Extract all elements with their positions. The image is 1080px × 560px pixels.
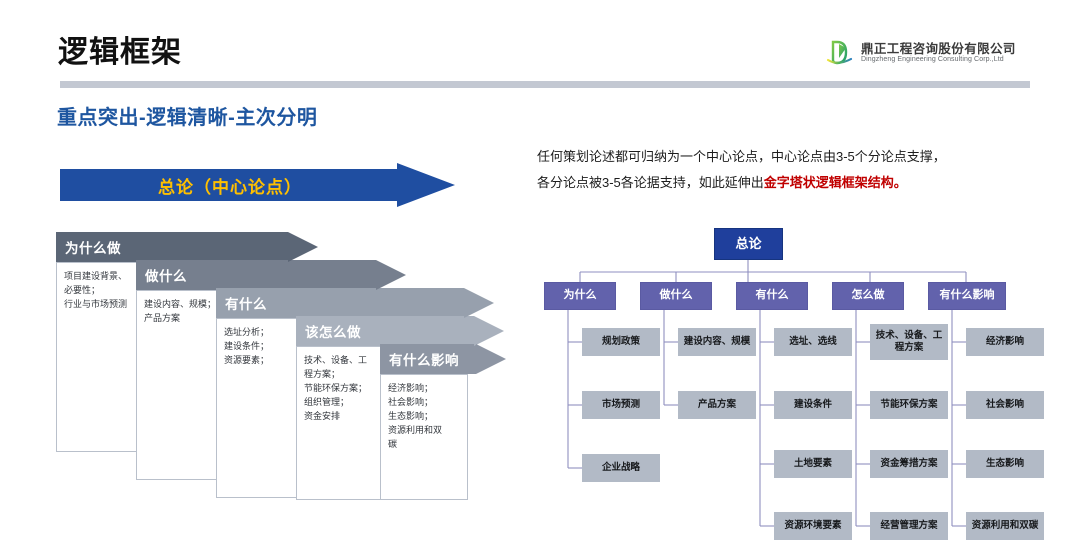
logo-leaf-icon xyxy=(826,39,854,67)
stair-body-1: 项目建设背景、 必要性； 行业与市场预测 xyxy=(56,262,144,452)
stair-5-item-2: 生态影响； xyxy=(388,410,461,424)
logo-text: 鼎正工程咨询股份有限公司 Dingzheng Engineering Consu… xyxy=(861,42,1016,64)
tree-leaf-5-3[interactable]: 生态影响 xyxy=(966,450,1044,478)
stair-head-2-label: 做什么 xyxy=(145,265,187,285)
stair-head-1: 为什么做 xyxy=(56,232,288,262)
stair-4-item-0: 技术、设备、工 xyxy=(304,354,377,368)
stair-1-item-0: 项目建设背景、 xyxy=(64,270,137,284)
tree-leaf-3-3[interactable]: 土地要素 xyxy=(774,450,852,478)
stair-3-item-2: 资源要素； xyxy=(224,354,297,368)
tree-leaf-3-2[interactable]: 建设条件 xyxy=(774,391,852,419)
tree-branch-3[interactable]: 有什么 xyxy=(736,282,808,310)
stair-head-1-label: 为什么做 xyxy=(65,237,121,257)
tree-leaf-4-2[interactable]: 节能环保方案 xyxy=(870,391,948,419)
company-logo: 鼎正工程咨询股份有限公司 Dingzheng Engineering Consu… xyxy=(826,36,1036,70)
logo-company-cn: 鼎正工程咨询股份有限公司 xyxy=(861,42,1016,56)
tree-leaf-5-2[interactable]: 社会影响 xyxy=(966,391,1044,419)
stair-4-item-3: 组织管理； xyxy=(304,396,377,410)
paragraph-line-2-plain: 各分论点被3-5各论据支持，如此延伸出 xyxy=(537,175,764,190)
stair-4-item-2: 节能环保方案； xyxy=(304,382,377,396)
stair-3-item-1: 建设条件； xyxy=(224,340,297,354)
title-divider xyxy=(60,81,1030,88)
tree-leaf-2-1[interactable]: 建设内容、规模 xyxy=(678,328,756,356)
pyramid-tree-diagram: 总论 为什么 做什么 有什么 怎么做 有什么影响 规划政策 市场预测 企业战略 … xyxy=(530,224,1075,544)
stair-body-2: 建设内容、规模； 产品方案 xyxy=(136,290,224,480)
stair-4-item-1: 程方案； xyxy=(304,368,377,382)
tree-node-root[interactable]: 总论 xyxy=(714,228,783,260)
stair-1-item-2: 行业与市场预测 xyxy=(64,298,137,312)
stair-body-3: 选址分析； 建设条件； 资源要素； xyxy=(216,318,304,498)
staircase-diagram: 为什么做 项目建设背景、 必要性； 行业与市场预测 做什么 建设内容、规模； 产… xyxy=(52,228,522,508)
tree-leaf-3-1[interactable]: 选址、选线 xyxy=(774,328,852,356)
stair-5-item-0: 经济影响； xyxy=(388,382,461,396)
stair-1-item-1: 必要性； xyxy=(64,284,137,298)
tree-leaf-1-2[interactable]: 市场预测 xyxy=(582,391,660,419)
tree-leaf-4-1[interactable]: 技术、设备、工程方案 xyxy=(870,324,948,360)
tree-leaf-5-1[interactable]: 经济影响 xyxy=(966,328,1044,356)
tree-branch-5[interactable]: 有什么影响 xyxy=(928,282,1006,310)
tree-connectors xyxy=(530,224,1075,544)
paragraph-line-1: 任何策划论述都可归纳为一个中心论点，中心论点由3-5个分论点支撑， xyxy=(537,149,946,164)
tree-leaf-4-3[interactable]: 资金筹措方案 xyxy=(870,450,948,478)
tree-branch-2[interactable]: 做什么 xyxy=(640,282,712,310)
tree-leaf-1-1[interactable]: 规划政策 xyxy=(582,328,660,356)
tree-branch-1[interactable]: 为什么 xyxy=(544,282,616,310)
stair-head-2: 做什么 xyxy=(136,260,376,290)
stair-head-3: 有什么 xyxy=(216,288,464,318)
slide-root: 逻辑框架 重点突出-逻辑清晰-主次分明 xyxy=(0,0,1080,560)
tree-leaf-5-4[interactable]: 资源利用和双碳 xyxy=(966,512,1044,540)
stair-4-item-4: 资金安排 xyxy=(304,410,377,424)
stair-5-item-3: 资源利用和双 xyxy=(388,424,461,438)
stair-body-4: 技术、设备、工 程方案； 节能环保方案； 组织管理； 资金安排 xyxy=(296,346,384,500)
stair-head-5: 有什么影响 xyxy=(380,344,476,374)
stair-head-4-label: 该怎么做 xyxy=(305,321,361,341)
stair-body-5: 经济影响； 社会影响； 生态影响； 资源利用和双 碳 xyxy=(380,374,468,500)
logo-company-en: Dingzheng Engineering Consulting Corp.,L… xyxy=(861,56,1016,64)
paragraph-highlight: 金字塔状逻辑框架结构。 xyxy=(764,175,907,190)
stair-3-item-0: 选址分析； xyxy=(224,326,297,340)
tree-leaf-2-2[interactable]: 产品方案 xyxy=(678,391,756,419)
page-title: 逻辑框架 xyxy=(58,27,182,71)
tree-leaf-1-3[interactable]: 企业战略 xyxy=(582,454,660,482)
stair-2-item-0: 建设内容、规模； xyxy=(144,298,217,312)
stair-5-item-1: 社会影响； xyxy=(388,396,461,410)
stair-head-3-label: 有什么 xyxy=(225,293,267,313)
explanatory-paragraph: 任何策划论述都可归纳为一个中心论点，中心论点由3-5个分论点支撑， 各分论点被3… xyxy=(537,144,1035,196)
tree-leaf-3-4[interactable]: 资源环境要素 xyxy=(774,512,852,540)
stair-5-item-4: 碳 xyxy=(388,438,461,452)
tree-branch-4[interactable]: 怎么做 xyxy=(832,282,904,310)
stair-head-4: 该怎么做 xyxy=(296,316,474,346)
tree-leaf-4-4[interactable]: 经营管理方案 xyxy=(870,512,948,540)
stair-2-item-1: 产品方案 xyxy=(144,312,217,326)
page-subtitle: 重点突出-逻辑清晰-主次分明 xyxy=(57,101,317,130)
arrow-banner-label: 总论（中心论点） xyxy=(60,163,400,207)
stair-head-5-label: 有什么影响 xyxy=(389,349,459,369)
central-thesis-arrow: 总论（中心论点） xyxy=(60,163,455,207)
